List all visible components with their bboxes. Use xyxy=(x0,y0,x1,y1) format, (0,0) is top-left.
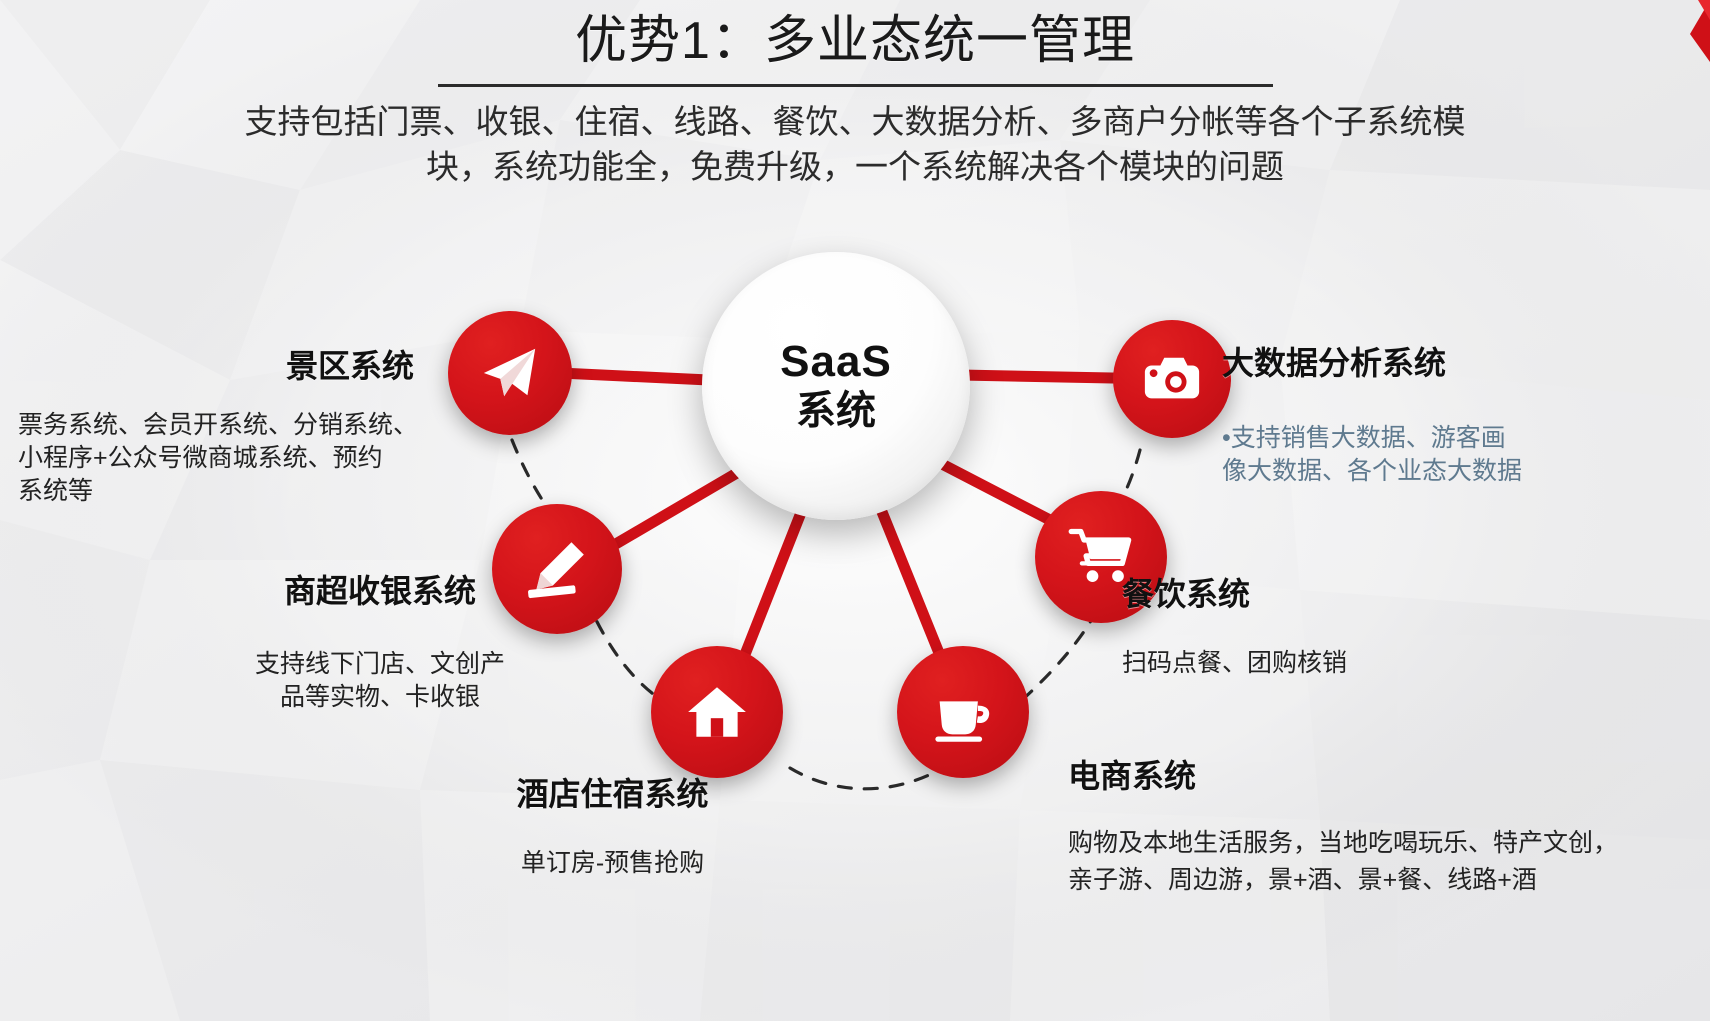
title-divider xyxy=(438,84,1273,87)
ecom-desc-line1: 购物及本地生活服务，当地吃喝玩乐、特产文创， xyxy=(1068,829,1618,857)
scenic-desc-line1: 票务系统、会员开系统、分销系统、 xyxy=(18,411,418,439)
camera-icon xyxy=(1141,348,1203,410)
label-bigdata-system: 大数据分析系统 •支持销售大数据、游客画 像大数据、各个业态大数据 xyxy=(1222,344,1702,488)
slide-header: 优势1：多业态统一管理 支持包括门票、收银、住宿、线路、餐饮、大数据分析、多商户… xyxy=(0,0,1710,190)
hub-title-en: SaaS xyxy=(780,338,892,386)
scenic-title: 景区系统 xyxy=(18,347,468,385)
scenic-desc: 票务系统、会员开系统、分销系统、 小程序+公众号微商城系统、预约 系统等 xyxy=(18,409,468,508)
pos-desc: 支持线下门店、文创产 品等实物、卡收银 xyxy=(200,648,560,714)
bigdata-desc-line1: •支持销售大数据、游客画 xyxy=(1222,424,1506,452)
label-pos-system: 商超收银系统 支持线下门店、文创产 品等实物、卡收银 xyxy=(200,572,560,714)
ecom-title: 电商系统 xyxy=(1068,757,1708,795)
scenic-desc-line3: 系统等 xyxy=(18,477,93,505)
page-title: 优势1：多业态统一管理 xyxy=(0,12,1710,72)
node-hotel-system[interactable] xyxy=(651,646,783,778)
pos-desc-line2: 品等实物、卡收银 xyxy=(280,683,480,711)
hotel-title: 酒店住宿系统 xyxy=(440,775,785,813)
slide-subtitle-line2: 块，系统功能全，免费升级，一个系统解决各个模块的问题 xyxy=(205,144,1505,190)
bigdata-title: 大数据分析系统 xyxy=(1222,344,1702,382)
pos-desc-line1: 支持线下门店、文创产 xyxy=(255,650,505,678)
paper-plane-icon xyxy=(479,342,541,404)
hotel-desc: 单订房-预售抢购 xyxy=(440,847,785,880)
ecom-desc-line2: 亲子游、周边游，景+酒、景+餐、线路+酒 xyxy=(1068,866,1537,894)
label-scenic-system: 景区系统 票务系统、会员开系统、分销系统、 小程序+公众号微商城系统、预约 系统… xyxy=(18,347,468,508)
bigdata-desc: •支持销售大数据、游客画 像大数据、各个业态大数据 xyxy=(1222,422,1702,488)
food-title: 餐饮系统 xyxy=(1122,575,1542,613)
pos-title: 商超收银系统 xyxy=(200,572,560,610)
coffee-cup-icon xyxy=(929,678,997,746)
slide-subtitle-line1: 支持包括门票、收银、住宿、线路、餐饮、大数据分析、多商户分帐等各个子系统模 xyxy=(205,99,1505,145)
label-hotel-system: 酒店住宿系统 单订房-预售抢购 xyxy=(440,775,785,880)
bigdata-desc-line2: 像大数据、各个业态大数据 xyxy=(1222,457,1522,485)
house-icon xyxy=(684,679,750,745)
slide-subtitle: 支持包括门票、收银、住宿、线路、餐饮、大数据分析、多商户分帐等各个子系统模 块，… xyxy=(205,99,1505,190)
label-ecommerce-system: 电商系统 购物及本地生活服务，当地吃喝玩乐、特产文创， 亲子游、周边游，景+酒、… xyxy=(1068,757,1708,899)
scenic-desc-line2: 小程序+公众号微商城系统、预约 xyxy=(18,444,383,472)
food-desc-line1: 扫码点餐、团购核销 xyxy=(1122,649,1347,677)
hotel-desc-line1: 单订房-预售抢购 xyxy=(521,849,704,877)
food-desc: 扫码点餐、团购核销 xyxy=(1122,647,1542,680)
hub-title-cn: 系统 xyxy=(796,388,876,434)
label-food-system: 餐饮系统 扫码点餐、团购核销 xyxy=(1122,575,1542,680)
node-ecommerce-system[interactable] xyxy=(897,646,1029,778)
node-bigdata-system[interactable] xyxy=(1113,320,1231,438)
hub-saas-system[interactable]: SaaS 系统 xyxy=(702,252,970,520)
ecom-desc: 购物及本地生活服务，当地吃喝玩乐、特产文创， 亲子游、周边游，景+酒、景+餐、线… xyxy=(1068,825,1708,899)
